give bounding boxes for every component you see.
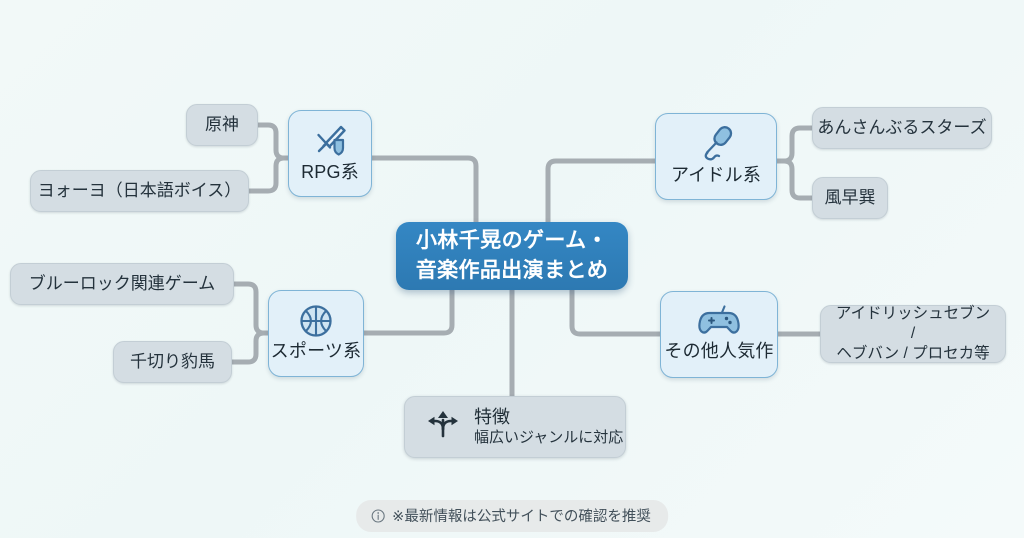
center-title-line2: 音楽作品出演まとめ: [416, 256, 609, 286]
leaf-kazehaya-tatsumi[interactable]: 風早巽: [812, 177, 888, 219]
connector-others-center: [572, 290, 660, 334]
leaf-ensemble-stars[interactable]: あんさんぶるスターズ: [812, 107, 992, 149]
leaf-yoyo[interactable]: ヨォーヨ（日本語ボイス）: [30, 170, 249, 212]
center-node[interactable]: 小林千晃のゲーム・ 音楽作品出演まとめ: [396, 222, 628, 290]
connector-kazehaya-idol: [777, 161, 812, 198]
microphone-icon: [696, 125, 736, 163]
category-label: その他人気作: [664, 340, 773, 364]
leaf-label: ブルーロック関連ゲーム: [29, 273, 216, 295]
feature-node[interactable]: 特徴 幅広いジャンルに対応: [404, 396, 626, 458]
connector-rpg-center: [372, 158, 476, 222]
leaf-chigiri-hyoma[interactable]: 千切り豹馬: [113, 341, 232, 383]
connector-sports-center: [364, 290, 452, 333]
info-circle-icon: [371, 509, 385, 523]
basketball-icon: [297, 303, 335, 339]
category-label: アイドル系: [671, 164, 761, 188]
connector-idol-center: [548, 161, 655, 222]
category-node-sports[interactable]: スポーツ系: [268, 290, 364, 377]
category-node-others[interactable]: その他人気作: [660, 291, 778, 378]
category-node-rpg[interactable]: RPG系: [288, 110, 372, 197]
leaf-label-line1: アイドリッシュセブン /: [833, 304, 993, 344]
leaf-bluelock[interactable]: ブルーロック関連ゲーム: [10, 263, 234, 305]
category-label: RPG系: [301, 161, 359, 185]
leaf-label: ヨォーヨ（日本語ボイス）: [38, 180, 242, 202]
feature-subtitle: 幅広いジャンルに対応: [474, 429, 623, 448]
center-title-line1: 小林千晃のゲーム・: [416, 226, 608, 256]
category-label: スポーツ系: [271, 340, 362, 364]
sword-shield-icon: [310, 122, 350, 160]
footer-note-text: ※最新情報は公式サイトでの確認を推奨: [392, 505, 651, 526]
category-node-idol[interactable]: アイドル系: [655, 113, 777, 200]
leaf-label: 風早巽: [825, 187, 876, 209]
three-way-arrow-icon: [425, 407, 461, 447]
leaf-label-line2: ヘブバン / プロセカ等: [836, 344, 989, 364]
leaf-misc-titles[interactable]: アイドリッシュセブン / ヘブバン / プロセカ等: [820, 305, 1006, 363]
gamepad-icon: [698, 305, 740, 339]
feature-title: 特徴: [474, 407, 510, 429]
connector-ensemble-idol: [777, 128, 812, 161]
leaf-label: 原神: [205, 114, 239, 136]
leaf-label: あんさんぶるスターズ: [817, 117, 986, 139]
mindmap-canvas: 原神 ヨォーヨ（日本語ボイス） ブルーロック関連ゲーム 千切り豹馬 あんさんぶる…: [0, 0, 1024, 538]
leaf-label: 千切り豹馬: [130, 351, 215, 373]
connector-yoyo-rpg: [249, 158, 288, 191]
feature-text-group: 特徴 幅広いジャンルに対応: [474, 407, 623, 448]
connector-chigiri-sports: [232, 333, 268, 362]
connector-genshin-rpg: [258, 125, 288, 158]
footer-note: ※最新情報は公式サイトでの確認を推奨: [356, 500, 668, 532]
leaf-genshin[interactable]: 原神: [186, 104, 258, 146]
connector-bluelock-sports: [234, 284, 268, 333]
